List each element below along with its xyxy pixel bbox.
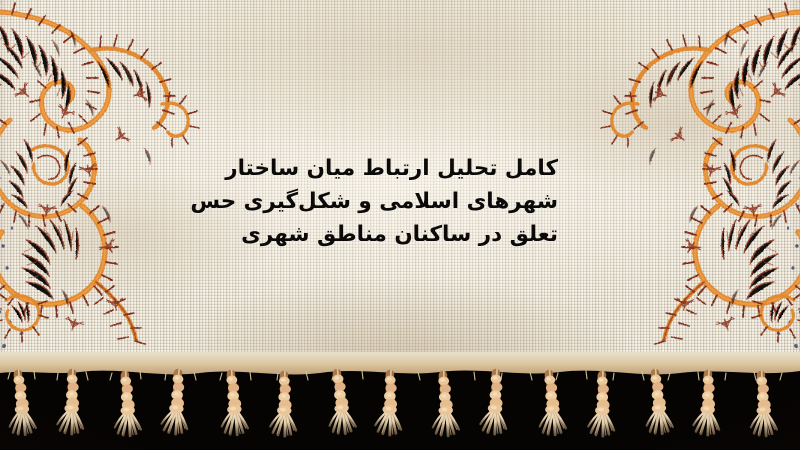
title-card: کامل تحلیل ارتباط میان ساختار شهرهای اسل… xyxy=(0,0,800,450)
title-line-1: کامل تحلیل ارتباط میان ساختار xyxy=(238,152,558,185)
cloth-hem xyxy=(0,352,800,378)
title-line-2: شهرهای اسلامی و شکل‌گیری حس xyxy=(238,185,558,218)
page-title: کامل تحلیل ارتباط میان ساختار شهرهای اسل… xyxy=(238,152,558,251)
title-line-3: تعلق در ساکنان مناطق شهری xyxy=(238,218,558,251)
